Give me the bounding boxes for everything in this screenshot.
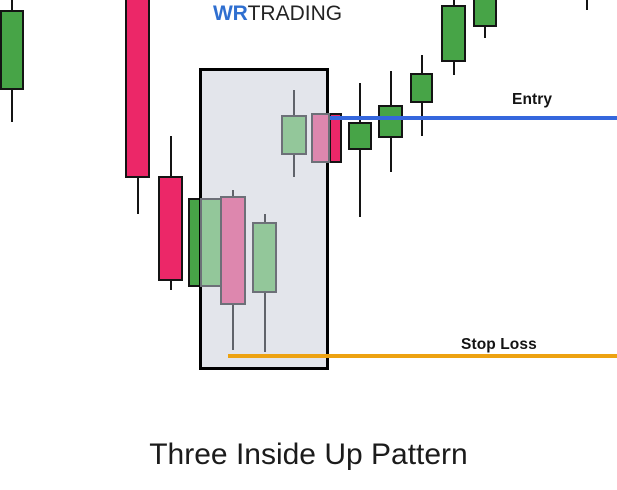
candle-body (311, 113, 330, 163)
candle-body (0, 10, 24, 90)
candle-body (252, 222, 277, 293)
stop-loss-line (228, 354, 617, 358)
candle-body (410, 73, 433, 103)
entry-line (330, 116, 617, 120)
candlestick-chart-figure: WRTRADING EntryStop Loss Three Inside Up… (0, 0, 617, 490)
logo-mark-text: WR (213, 2, 248, 25)
stop-loss-label: Stop Loss (461, 336, 537, 354)
candle-wick (586, 0, 588, 10)
candle-body (348, 122, 372, 150)
candle-body (473, 0, 497, 27)
page-title: Three Inside Up Pattern (0, 438, 617, 472)
candle-wick (359, 83, 361, 217)
candle-body (220, 196, 246, 305)
candle-body (378, 105, 403, 138)
brand-logo: WRTRADING (213, 2, 342, 26)
candle-body (125, 0, 150, 178)
entry-label: Entry (512, 91, 552, 109)
candle-body (441, 5, 466, 62)
candle-body (158, 176, 183, 281)
candle-body (281, 115, 307, 155)
logo-word-text: TRADING (248, 2, 343, 25)
candle-body (329, 113, 342, 163)
